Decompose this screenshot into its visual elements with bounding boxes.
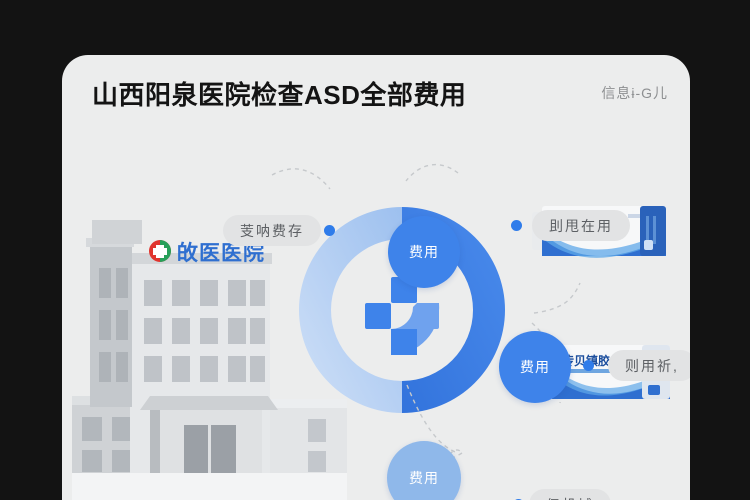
connector-line-2: [406, 165, 458, 181]
label-pill-4[interactable]: 佞机城: [529, 489, 611, 500]
connector-line-3: [534, 283, 580, 313]
header-note: 信息ɨ-G儿: [601, 83, 668, 103]
info-card: 山西阳泉医院检查ASD全部费用 信息ɨ-G儿: [62, 55, 690, 500]
screenshot-stage: 山西阳泉医院检查ASD全部费用 信息ɨ-G儿: [0, 0, 750, 500]
label-pill-3[interactable]: 则用祈,: [608, 350, 690, 381]
cost-node-top-label: 费用: [409, 242, 439, 262]
label-pill-1[interactable]: 芰呐费存: [223, 215, 321, 246]
connector-dot-2: [511, 220, 522, 231]
label-pill-2[interactable]: 刞甩在用: [532, 210, 630, 241]
medical-cross-logo: [365, 277, 439, 355]
cost-node-top[interactable]: 费用: [388, 216, 460, 288]
cost-node-right[interactable]: 费用: [499, 331, 571, 403]
cost-node-bottom-label: 费用: [409, 468, 439, 488]
connector-dot-3: [583, 360, 594, 371]
page-title: 山西阳泉医院检查ASD全部费用: [92, 75, 466, 112]
connector-dot-1: [324, 225, 335, 236]
cost-node-right-label: 费用: [520, 357, 550, 377]
cost-node-bottom[interactable]: 费用: [387, 441, 461, 500]
